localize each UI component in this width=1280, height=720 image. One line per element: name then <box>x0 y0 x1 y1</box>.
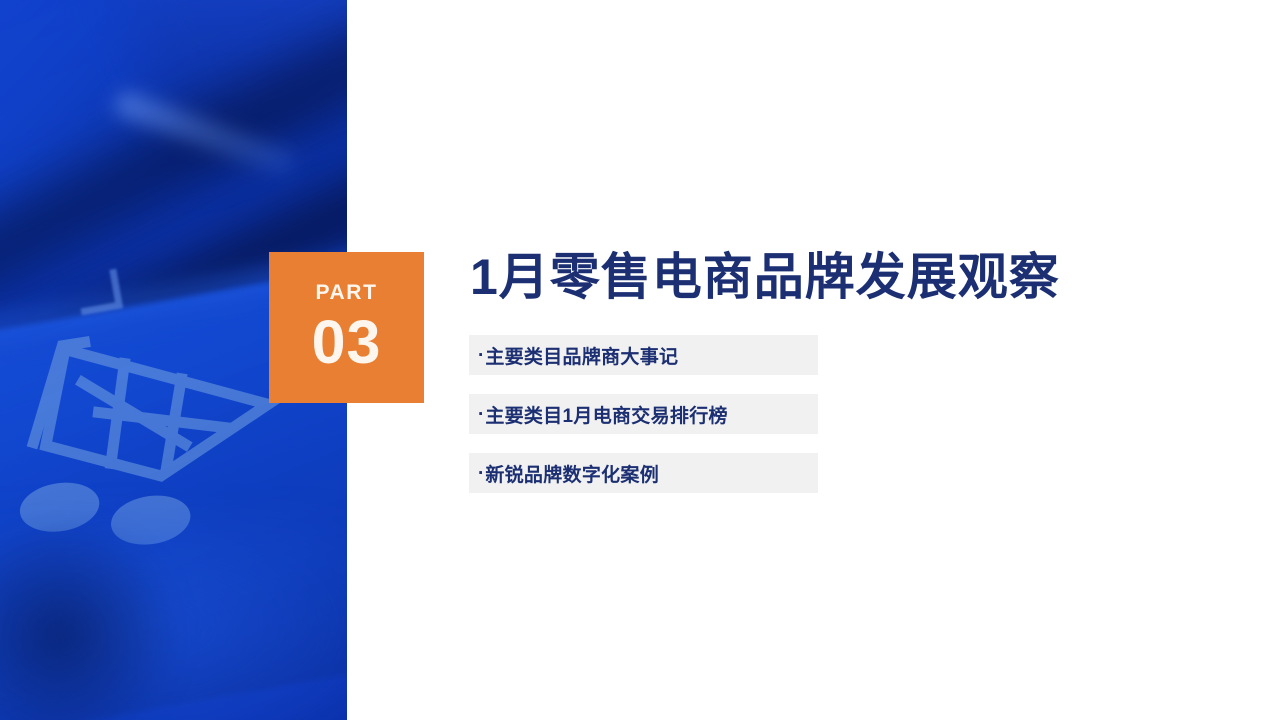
list-item[interactable]: · 主要类目1月电商交易排行榜 <box>469 394 818 434</box>
list-item[interactable]: · 主要类目品牌商大事记 <box>469 335 818 375</box>
bullet-dot-icon: · <box>478 464 484 483</box>
slide-canvas: PART 03 1月零售电商品牌发展观察 · 主要类目品牌商大事记 · 主要类目… <box>0 0 1280 720</box>
agenda-list: · 主要类目品牌商大事记 · 主要类目1月电商交易排行榜 · 新锐品牌数字化案例 <box>469 335 1069 493</box>
bullet-dot-icon: · <box>478 346 484 365</box>
list-item-label: 主要类目1月电商交易排行榜 <box>485 401 727 428</box>
section-content: 1月零售电商品牌发展观察 · 主要类目品牌商大事记 · 主要类目1月电商交易排行… <box>469 250 1069 493</box>
page-title: 1月零售电商品牌发展观察 <box>470 250 1069 305</box>
bullet-dot-icon: · <box>478 405 484 424</box>
section-number-badge: PART 03 <box>269 252 424 403</box>
list-item-label: 主要类目品牌商大事记 <box>485 342 678 369</box>
section-part-label: PART <box>315 282 377 303</box>
section-part-number: 03 <box>312 312 382 373</box>
list-item-label: 新锐品牌数字化案例 <box>485 460 659 487</box>
list-item[interactable]: · 新锐品牌数字化案例 <box>469 453 818 493</box>
